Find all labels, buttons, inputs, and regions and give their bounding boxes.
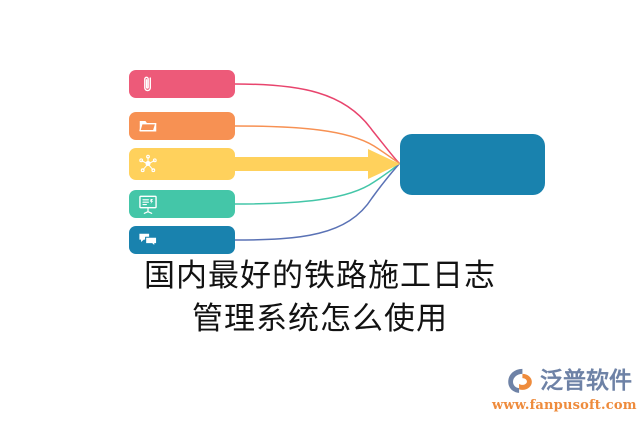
brand-url: www.fanpusoft.com [492, 398, 632, 413]
page-title: 国内最好的铁路施工日志 管理系统怎么使用 [0, 255, 640, 341]
connector-lines [0, 0, 640, 427]
network-hub-icon [137, 153, 159, 175]
hub-target-box[interactable] [400, 134, 545, 195]
logo-row: 泛普软件 [492, 365, 632, 397]
connector-chat [235, 164, 399, 240]
connector-presentation [235, 164, 399, 204]
headline-line-2: 管理系统怎么使用 [0, 298, 640, 341]
node-chat[interactable] [129, 226, 235, 254]
presentation-board-icon [137, 193, 159, 215]
node-attachment[interactable] [129, 70, 235, 98]
brand-name: 泛普软件 [540, 370, 632, 393]
convergence-diagram [0, 0, 640, 427]
page-canvas: 国内最好的铁路施工日志 管理系统怎么使用 泛普软件 www.fanpusoft.… [0, 0, 640, 427]
headline-line-1: 国内最好的铁路施工日志 [0, 255, 640, 298]
brand-logo[interactable]: 泛普软件 www.fanpusoft.com [492, 365, 632, 417]
connector-network-arrow [230, 149, 400, 179]
node-folder[interactable] [129, 112, 235, 140]
node-network[interactable] [129, 148, 235, 180]
node-presentation[interactable] [129, 190, 235, 218]
paperclip-icon [137, 73, 159, 95]
fanpu-logo-mark-icon [505, 366, 539, 396]
connector-folder [235, 126, 399, 163]
folder-icon [137, 115, 159, 137]
connector-attachment [235, 84, 399, 163]
chat-bubbles-icon [137, 229, 159, 251]
